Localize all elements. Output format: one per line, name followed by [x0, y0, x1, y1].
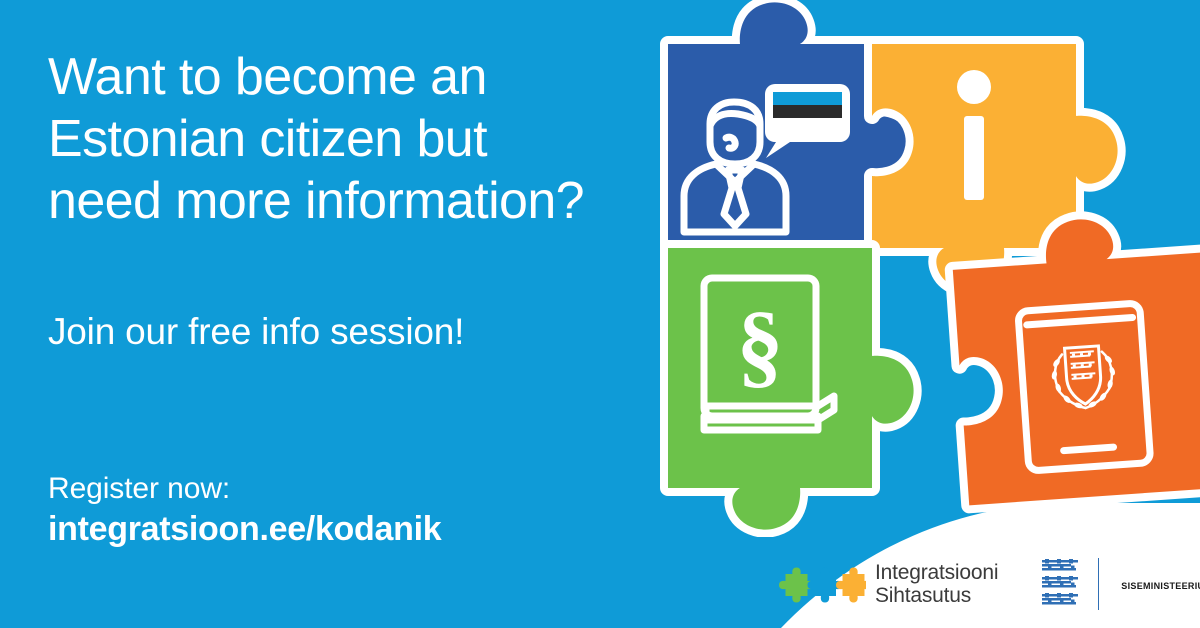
logo-bar: Integratsiooni Sihtasutus	[778, 556, 1200, 612]
puzzle-piece-law: §	[668, 248, 914, 530]
paragraph-glyph: §	[737, 293, 784, 397]
three-puzzle-pieces-icon	[778, 560, 866, 608]
headline: Want to become an Estonian citizen but n…	[48, 46, 688, 232]
logo-divider	[1098, 558, 1099, 610]
integratsiooni-sihtasutus-logo[interactable]: Integratsiooni Sihtasutus	[778, 560, 998, 608]
cta-label: Register now:	[48, 471, 230, 507]
estonian-coat-of-arms-icon	[1038, 557, 1082, 611]
siseministeerium-logo[interactable]: Siseministeerium	[1038, 557, 1200, 611]
puzzle-piece-orange	[836, 568, 866, 603]
government-logo-text: Siseministeerium	[1121, 577, 1200, 592]
promotional-banner: Want to become an Estonian citizen but n…	[0, 0, 1200, 628]
foundation-logo-text: Integratsiooni Sihtasutus	[875, 561, 998, 607]
copy-block: Want to become an Estonian citizen but n…	[48, 0, 688, 628]
cta-url[interactable]: integratsioon.ee/kodanik	[48, 508, 441, 550]
subheadline: Join our free info session!	[48, 310, 464, 354]
puzzle-artwork: §	[640, 0, 1200, 537]
